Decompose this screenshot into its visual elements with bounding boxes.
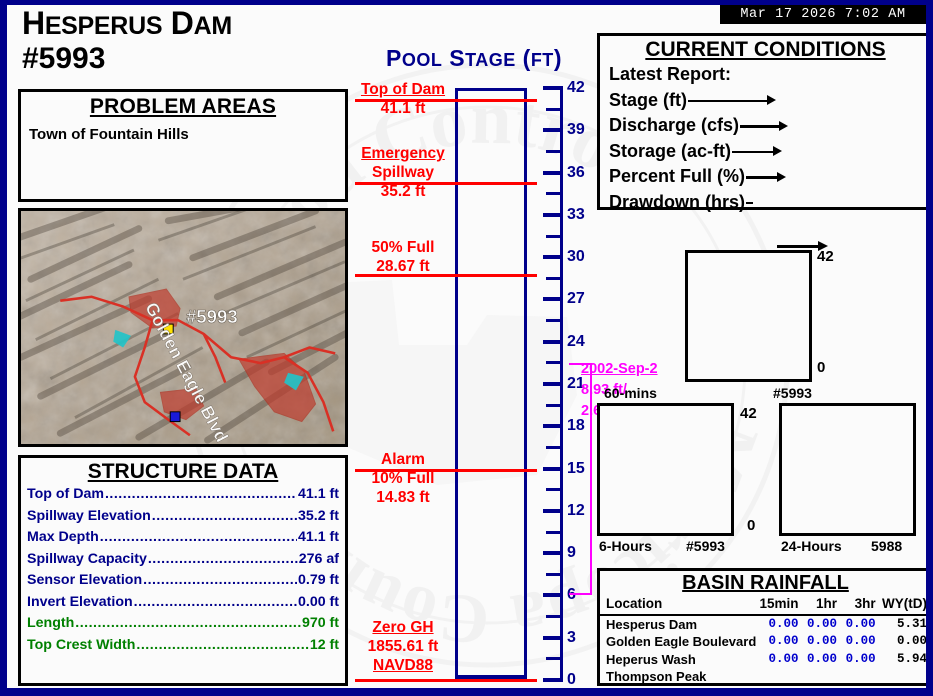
gauge-tick-major [543, 636, 563, 640]
gauge-tick-minor [546, 150, 563, 153]
gauge-tick-major [543, 171, 563, 175]
rainfall-value: 0.00 [803, 633, 842, 651]
structure-row: Max Depth...............................… [21, 527, 345, 549]
current-conditions-heading: CURRENT CONDITIONS [600, 38, 931, 62]
gauge-marker-label-emergency-spillway: EmergencySpillway35.2 ft [347, 144, 459, 201]
gauge-marker-title: Spillway [347, 163, 459, 182]
gauge-tick-major [543, 551, 563, 555]
latest-report-row: Latest Report: [609, 62, 931, 88]
gauge-marker-value: NAVD88 [347, 656, 459, 675]
current-conditions-rows: Stage (ft)Discharge (cfs)Storage (ac-ft)… [600, 88, 931, 216]
structure-row-value: 41.1 ft [298, 484, 339, 506]
clock-timestamp: Mar 17 2026 7:02 AM [720, 5, 926, 24]
gauge-tick-label: 36 [567, 164, 585, 182]
gauge-tick-label: 0 [567, 671, 576, 689]
map-site-label: #5993 [186, 306, 238, 327]
gauge-marker-label-fifty-percent-full: 50% Full28.67 ft [347, 238, 459, 276]
rainfall-value: 0.00 [756, 633, 802, 651]
basin-rainfall-body: Hesperus Dam0.000.000.005.31Golden Eagle… [600, 615, 931, 686]
structure-row-dots: ........................................… [152, 506, 297, 528]
problem-areas-panel: PROBLEM AREAS Town of Fountain Hills [18, 89, 348, 202]
plot-trend-arrow-icon [777, 241, 829, 252]
rainfall-value [756, 668, 802, 686]
structure-row: Spillway Elevation......................… [21, 506, 345, 528]
gauge-tick-minor [546, 531, 563, 534]
rainfall-value: 0.00 [841, 633, 880, 651]
peak-date: 2002-Sep-2 [581, 359, 701, 380]
gauge-tick-minor [546, 235, 563, 238]
structure-row-label: Length [27, 613, 74, 635]
structure-row-label: Top Crest Width [27, 635, 135, 657]
structure-row-dots: ........................................… [100, 527, 297, 549]
plot-60-mins-ymin: 0 [817, 359, 825, 376]
rainfall-col-header: 1hr [803, 595, 842, 615]
current-condition-row: Storage (ac-ft) [609, 139, 931, 165]
structure-data-panel: STRUCTURE DATA Top of Dam...............… [18, 455, 348, 686]
current-condition-row: Discharge (cfs) [609, 113, 931, 139]
plot-6-hours[interactable] [597, 403, 734, 536]
gauge-tick-major [543, 128, 563, 132]
pool-stage-gauge: POOL STAGE (FT) 036912151821242730333639… [355, 45, 593, 690]
rainfall-value: 0.00 [841, 651, 880, 669]
plot-60-mins-xlabel: 60-mins [604, 385, 657, 401]
gauge-marker-title: 50% Full [347, 238, 459, 257]
problem-areas-item: Town of Fountain Hills [29, 126, 345, 143]
structure-row: Sensor Elevation........................… [21, 570, 345, 592]
gauge-tick-major [543, 593, 563, 597]
gauge-tick-minor [546, 404, 563, 407]
gauge-marker-value: 41.1 ft [347, 99, 459, 118]
structure-row-value: 970 ft [302, 613, 339, 635]
latest-report-label: Latest Report: [609, 62, 731, 88]
current-condition-row: Stage (ft) [609, 88, 931, 114]
arrow-right-icon [746, 197, 762, 208]
structure-row-value: 12 ft [310, 635, 339, 657]
rainfall-location: Thompson Peak [600, 668, 756, 686]
structure-row-dots: ........................................… [148, 549, 298, 571]
gauge-tick-major [543, 297, 563, 301]
current-condition-row: Percent Full (%) [609, 164, 931, 190]
gauge-tick-major [543, 382, 563, 386]
structure-row: Top Crest Width.........................… [21, 635, 345, 657]
current-condition-label: Percent Full (%) [609, 164, 745, 190]
structure-row-dots: ........................................… [105, 484, 297, 506]
structure-data-heading: STRUCTURE DATA [21, 460, 345, 484]
rainfall-location: Heperus Wash [600, 651, 756, 669]
rainfall-table-row: Thompson Peak [600, 668, 931, 686]
gauge-marker-title: Zero GH [347, 618, 459, 637]
gauge-tick-major [543, 509, 563, 513]
plot-24-hours[interactable] [779, 403, 916, 536]
structure-row: Top of Dam..............................… [21, 484, 345, 506]
plot-60-mins-site: #5993 [773, 385, 812, 401]
structure-row-dots: ........................................… [134, 592, 297, 614]
rainfall-col-header: WY(tD) [880, 595, 931, 615]
basin-rainfall-header-row: Location15min1hr3hrWY(tD) [600, 595, 931, 615]
arrow-right-icon [740, 120, 788, 131]
gauge-tick-major [543, 255, 563, 259]
structure-row-label: Spillway Capacity [27, 549, 147, 571]
rainfall-col-header: Location [600, 595, 756, 615]
gauge-tick-major [543, 213, 563, 217]
current-condition-label: Discharge (cfs) [609, 113, 739, 139]
plot-6-hours-xlabel: 6-Hours [599, 538, 652, 554]
structure-row-dots: ........................................… [143, 570, 297, 592]
gauge-marker-title: 1855.61 ft [347, 637, 459, 656]
gauge-tick-major [543, 340, 563, 344]
structure-row: Spillway Capacity.......................… [21, 549, 345, 571]
current-condition-label: Stage (ft) [609, 88, 687, 114]
rainfall-location: Golden Eagle Boulevard [600, 633, 756, 651]
site-map[interactable]: #5993 Golden Eagle Blvd [18, 208, 348, 447]
gauge-tick-label: 30 [567, 248, 585, 266]
rainfall-table-row: Heperus Wash0.000.000.005.94 [600, 651, 931, 669]
rainfall-value [880, 668, 931, 686]
plot-24-hours-site: 5988 [871, 538, 902, 554]
gauge-tick-minor [546, 615, 563, 618]
current-condition-row: Drawdown (hrs) [609, 190, 931, 216]
structure-row-label: Invert Elevation [27, 592, 133, 614]
plot-6-hours-site: #5993 [686, 538, 725, 554]
basin-rainfall-panel: BASIN RAINFALL Location15min1hr3hrWY(tD)… [597, 568, 933, 686]
gauge-marker-value: 28.67 ft [347, 257, 459, 276]
gauge-marker-title: 10% Full [347, 469, 459, 488]
gauge-tick-label: 27 [567, 290, 585, 308]
gauge-column [455, 88, 527, 679]
rainfall-value: 5.31 [880, 615, 931, 634]
gauge-tick-label: 3 [567, 629, 576, 647]
page-title: HESPERUS DAM #5993 [22, 7, 232, 74]
structure-row: Invert Elevation........................… [21, 592, 345, 614]
page-title-line2: #5993 [22, 43, 232, 74]
gauge-tick-minor [546, 319, 563, 322]
rainfall-value: 0.00 [803, 651, 842, 669]
gauge-marker-label-alarm: Alarm10% Full14.83 ft [347, 450, 459, 507]
gauge-marker-label-top-of-dam: Top of Dam41.1 ft [347, 80, 459, 118]
rainfall-table-row: Hesperus Dam0.000.000.005.31 [600, 615, 931, 634]
rainfall-location: Hesperus Dam [600, 615, 756, 634]
gauge-tick-minor [546, 192, 563, 195]
plot-6-hours-ymax: 42 [740, 405, 757, 422]
gauge-tick-major [543, 467, 563, 471]
structure-row-label: Spillway Elevation [27, 506, 151, 528]
rainfall-value: 0.00 [841, 615, 880, 634]
structure-row-value: 35.2 ft [298, 506, 339, 528]
structure-row-label: Max Depth [27, 527, 99, 549]
rainfall-value: 0.00 [756, 615, 802, 634]
plot-6-hours-ymin: 0 [747, 517, 755, 534]
structure-row-label: Top of Dam [27, 484, 104, 506]
basin-rainfall-table: Location15min1hr3hrWY(tD) Hesperus Dam0.… [600, 595, 931, 686]
structure-row-value: 276 af [299, 549, 339, 571]
gauge-tick-minor [546, 277, 563, 280]
dashboard-page: Flood Control Maricopa County Mar 17 202… [0, 0, 933, 696]
gauge-marker-line-zero-gage-height [355, 679, 537, 682]
gauge-tick-minor [546, 573, 563, 576]
gauge-marker-label-zero-gage-height: Zero GH1855.61 ftNAVD88 [347, 618, 459, 675]
rainfall-value: 5.94 [880, 651, 931, 669]
rainfall-value [803, 668, 842, 686]
gauge-tick-minor [546, 446, 563, 449]
gauge-marker-title: Emergency [347, 144, 459, 163]
current-conditions-panel: CURRENT CONDITIONS Latest Report: Stage … [597, 33, 933, 210]
rainfall-col-header: 3hr [841, 595, 880, 615]
structure-row-value: 0.79 ft [298, 570, 339, 592]
gauge-tick-label: 24 [567, 333, 585, 351]
page-title-line1: HESPERUS DAM [22, 7, 232, 43]
basin-rainfall-heading: BASIN RAINFALL [600, 572, 931, 595]
gauge-marker-title: Alarm [347, 450, 459, 469]
gauge-marker-value: 35.2 ft [347, 182, 459, 201]
gauge-tick-major [543, 424, 563, 428]
rainfall-col-header: 15min [756, 595, 802, 615]
gauge-marker-title: Top of Dam [347, 80, 459, 99]
structure-row-value: 0.00 ft [298, 592, 339, 614]
plot-60-mins[interactable] [685, 250, 812, 382]
structure-row: Length..................................… [21, 613, 345, 635]
structure-data-rows: Top of Dam..............................… [21, 484, 345, 656]
arrow-right-icon [688, 95, 776, 106]
rainfall-value: 0.00 [880, 633, 931, 651]
rainfall-table-row: Golden Eagle Boulevard0.000.000.000.00 [600, 633, 931, 651]
current-condition-label: Drawdown (hrs) [609, 190, 745, 216]
arrow-right-icon [732, 146, 782, 157]
gauge-tick-minor [546, 657, 563, 660]
gauge-tick-minor [546, 361, 563, 364]
current-condition-label: Storage (ac-ft) [609, 139, 731, 165]
gauge-tick-major [543, 86, 563, 90]
gauge-tick-label: 33 [567, 206, 585, 224]
rainfall-value [841, 668, 880, 686]
gauge-tick-minor [546, 488, 563, 491]
gauge-tick-minor [546, 108, 563, 111]
structure-row-value: 41.1 ft [298, 527, 339, 549]
gauge-tick-label: 42 [567, 79, 585, 97]
rainfall-value: 0.00 [756, 651, 802, 669]
gauge-tick-major [543, 678, 563, 682]
pool-stage-title: POOL STAGE (FT) [355, 45, 593, 72]
structure-row-dots: ........................................… [75, 613, 301, 635]
structure-row-label: Sensor Elevation [27, 570, 142, 592]
gauge-marker-value: 14.83 ft [347, 488, 459, 507]
gauge-tick-label: 39 [567, 121, 585, 139]
plot-24-hours-xlabel: 24-Hours [781, 538, 842, 554]
arrow-right-icon [746, 171, 786, 182]
rainfall-value: 0.00 [803, 615, 842, 634]
structure-row-dots: ........................................… [136, 635, 308, 657]
problem-areas-heading: PROBLEM AREAS [21, 95, 345, 119]
